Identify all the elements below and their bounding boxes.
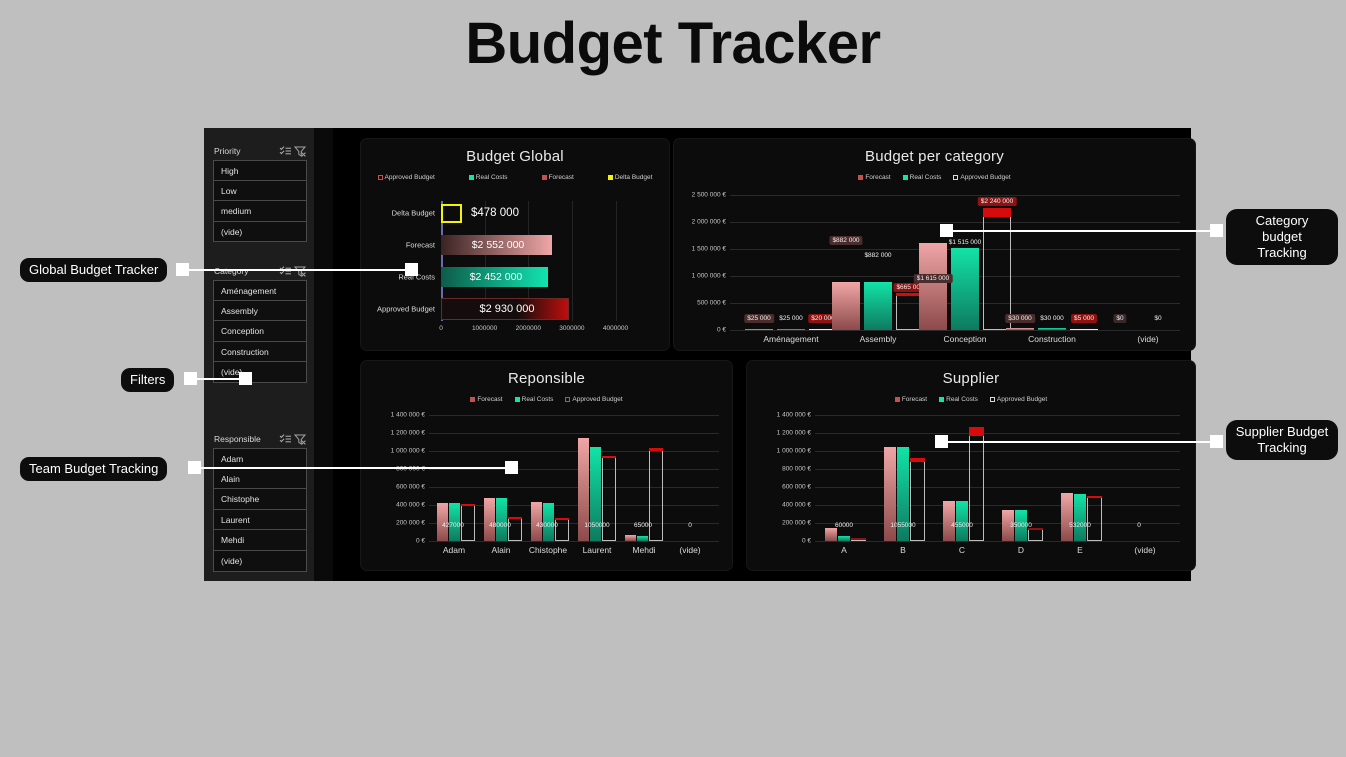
chart-legend-budget-global: Approved Budget Real Costs Forecast Delt… — [361, 174, 669, 181]
legend-label-real-costs: Real Costs — [910, 174, 942, 181]
gridline-200k — [815, 523, 1180, 524]
bar-cap-approved-budget-conception — [983, 208, 1011, 217]
ytick-0: 0 € — [717, 327, 726, 334]
datalabel-vide: 0 — [1134, 521, 1144, 530]
ytick-500000: 500 000 € — [697, 300, 726, 307]
bar-cap-approved-budget-b — [910, 458, 925, 462]
legend-swatch-forecast — [470, 397, 475, 402]
leader-line-supplier-budget-tracking — [938, 441, 1223, 443]
gridline-400k — [815, 505, 1180, 506]
xlabel-alain: Alain — [492, 545, 511, 555]
datalabel-alain: 480000 — [486, 521, 514, 530]
leader-handle-supplier-budget-tracking-start[interactable] — [935, 435, 948, 448]
bar-forecast-amenagement[interactable] — [745, 329, 773, 330]
xlabel-laurent: Laurent — [583, 545, 612, 555]
gridline-4m — [616, 201, 617, 321]
datalabel-mehdi: 65000 — [631, 521, 655, 530]
dashboard: Priority — [204, 128, 1191, 581]
slicer-item-category-construction[interactable]: Construction — [213, 342, 307, 363]
xlabel-adam: Adam — [443, 545, 465, 555]
leader-handle-team-budget-tracking-start[interactable] — [188, 461, 201, 474]
chart-legend-responsible: Forecast Real Costs Approved Budget — [361, 396, 732, 403]
xlabel-conception: Conception — [943, 334, 986, 344]
gridline-3m — [572, 201, 573, 321]
datalabel-c: 455000 — [948, 521, 976, 530]
gridline-600k — [429, 487, 719, 488]
xlabel-vide: (vide) — [1134, 545, 1155, 555]
xtick-0: 0 — [439, 325, 443, 332]
bar-real-costs-alain[interactable] — [496, 498, 507, 541]
bar-value-delta-budget: $478 000 — [471, 207, 519, 219]
gridline-800k — [429, 469, 719, 470]
legend-label-approved-budget: Approved Budget — [960, 174, 1010, 181]
datalabel-real-costs-amenagement: $25 000 — [776, 314, 806, 323]
xlabel-d: D — [1018, 545, 1024, 555]
bar-approved-budget-a[interactable] — [851, 538, 866, 541]
bar-label-approved-budget: Approved Budget — [377, 305, 435, 314]
leader-handle-supplier-budget-tracking-end[interactable] — [1210, 435, 1223, 448]
chart-card-supplier[interactable]: Supplier Forecast Real Costs Approved Bu… — [746, 360, 1196, 571]
datalabel-forecast-conception: $1 615 000 — [914, 274, 953, 283]
slicer-priority: Priority — [208, 142, 312, 252]
xtick-1000000: 1000000 — [472, 325, 497, 332]
gridline-2-5m — [730, 195, 1180, 196]
gridline-0 — [429, 541, 719, 542]
bar-cap-approved-budget-a — [851, 538, 866, 540]
legend-item-approved-budget[interactable]: Approved Budget — [378, 174, 435, 181]
bar-approved-budget-conception[interactable] — [983, 209, 1011, 330]
ytick-400000: 400 000 € — [782, 502, 811, 509]
bar-cap-approved-budget-chistophe — [555, 518, 569, 520]
bar-delta-budget[interactable] — [441, 204, 462, 223]
legend-label-real-costs: Real Costs — [522, 396, 554, 403]
chart-legend-budget-per-category: Forecast Real Costs Approved Budget — [674, 174, 1195, 181]
plot-budget-global: Delta Budget $478 000 Forecast $2 552 00… — [441, 201, 633, 321]
slicer-category-title: Category — [214, 266, 279, 276]
datalabel-real-costs-vide: $0 — [1151, 314, 1164, 323]
plot-supplier: 0 € 200 000 € 400 000 € 600 000 € 800 00… — [815, 415, 1180, 541]
chart-card-budget-per-category[interactable]: Budget per category Forecast Real Costs … — [673, 138, 1196, 351]
legend-swatch-approved-budget — [990, 397, 995, 402]
datalabel-adam: 427000 — [439, 521, 467, 530]
bar-forecast-mehdi[interactable] — [625, 535, 636, 541]
ytick-200000: 200 000 € — [782, 520, 811, 527]
slicer-item-responsible-alain[interactable]: Alain — [213, 469, 307, 490]
slicer-priority-header: Priority — [208, 142, 312, 160]
gridline-0 — [815, 541, 1180, 542]
multiselect-icon[interactable] — [279, 433, 293, 446]
ytick-0: 0 € — [416, 538, 425, 545]
slicer-item-category-conception[interactable]: Conception — [213, 321, 307, 342]
bar-cap-approved-budget-e — [1087, 496, 1102, 498]
bar-real-costs-a[interactable] — [838, 536, 850, 541]
ytick-800000: 800 000 € — [782, 466, 811, 473]
bar-real-costs-assembly[interactable] — [864, 282, 892, 330]
legend-item-approved-budget[interactable]: Approved Budget — [953, 174, 1010, 181]
bar-cap-approved-budget-c — [969, 427, 984, 436]
page-title: Budget Tracker — [0, 10, 1346, 77]
page-root: Budget Tracker Priority — [0, 0, 1346, 757]
legend-swatch-real-costs — [939, 397, 944, 402]
slicer-responsible-header: Responsible — [208, 430, 312, 448]
datalabel-real-costs-conception: $1 515 000 — [946, 238, 985, 247]
xlabel-vide: (vide) — [679, 545, 700, 555]
bar-forecast-assembly[interactable] — [832, 282, 860, 330]
gridline-600k — [815, 487, 1180, 488]
legend-item-real-costs[interactable]: Real Costs — [903, 174, 942, 181]
legend-item-real-costs[interactable]: Real Costs — [515, 396, 554, 403]
multiselect-icon[interactable] — [279, 145, 293, 158]
legend-item-approved-budget[interactable]: Approved Budget — [990, 396, 1047, 403]
xlabel-b: B — [900, 545, 906, 555]
datalabel-approved-budget-conception: $2 240 000 — [978, 197, 1017, 206]
chart-title-budget-global: Budget Global — [361, 148, 669, 165]
chart-card-responsible[interactable]: Reponsible Forecast Real Costs Approved … — [360, 360, 733, 571]
datalabel-approved-budget-construction: $5 000 — [1071, 314, 1097, 323]
bar-approved-budget-e[interactable] — [1087, 496, 1102, 541]
clear-filter-icon[interactable] — [293, 265, 307, 278]
chart-title-supplier: Supplier — [747, 370, 1195, 387]
datalabel-forecast-construction: $30 000 — [1005, 314, 1035, 323]
gridline-1m — [429, 451, 719, 452]
slicer-priority-title: Priority — [214, 146, 279, 156]
filters-sidebar: Priority — [204, 128, 333, 581]
ytick-1000000: 1 000 000 € — [777, 448, 811, 455]
chart-title-responsible: Reponsible — [361, 370, 732, 387]
bar-label-delta-budget: Delta Budget — [392, 209, 435, 218]
plot-responsible: 0 € 200 000 € 400 000 € 600 000 € 800 00… — [429, 415, 719, 541]
datalabel-chistophe: 430000 — [533, 521, 561, 530]
legend-swatch-approved-budget — [378, 175, 383, 180]
slicer-item-category-assembly[interactable]: Assembly — [213, 301, 307, 322]
slicer-item-responsible-laurent[interactable]: Laurent — [213, 510, 307, 531]
legend-swatch-real-costs — [515, 397, 520, 402]
legend-item-forecast[interactable]: Forecast — [858, 174, 890, 181]
leader-handle-global-budget-tracker-start[interactable] — [176, 263, 189, 276]
ytick-1500000: 1 500 000 € — [692, 246, 726, 253]
leader-handle-category-budget-tracking-end[interactable] — [1210, 224, 1223, 237]
slicer-item-priority-vide[interactable]: (vide) — [213, 222, 307, 243]
ytick-1000000: 1 000 000 € — [391, 448, 425, 455]
legend-item-real-costs[interactable]: Real Costs — [469, 174, 508, 181]
ytick-1400000: 1 400 000 € — [391, 412, 425, 419]
xlabel-amenagement: Aménagement — [763, 334, 818, 344]
gridline-1-2m — [429, 433, 719, 434]
bar-value-forecast: $2 552 000 — [472, 239, 525, 251]
bar-cap-approved-budget-alain — [508, 517, 522, 519]
bar-real-costs-conception[interactable] — [951, 248, 979, 330]
slicer-item-responsible-chistophe[interactable]: Chistophe — [213, 489, 307, 510]
slicer-responsible: Responsible — [208, 430, 312, 578]
legend-swatch-forecast — [542, 175, 547, 180]
plot-budget-per-category: 0 € 500 000 € 1 000 000 € 1 500 000 € 2 … — [730, 195, 1180, 330]
ytick-200000: 200 000 € — [396, 520, 425, 527]
leader-line-category-budget-tracking — [940, 230, 1223, 232]
slicer-category-header: Category — [208, 262, 312, 280]
slicer-responsible-title: Responsible — [214, 434, 279, 444]
datalabel-b: 1055000 — [887, 521, 918, 530]
ytick-400000: 400 000 € — [396, 502, 425, 509]
leader-handle-team-budget-tracking-end[interactable] — [505, 461, 518, 474]
xtick-2000000: 2000000 — [516, 325, 541, 332]
gridline-2m — [730, 222, 1180, 223]
legend-item-forecast[interactable]: Forecast — [470, 396, 502, 403]
bar-label-forecast: Forecast — [406, 241, 435, 250]
bar-forecast-conception[interactable] — [919, 243, 947, 330]
datalabel-forecast-amenagement: $25 000 — [744, 314, 774, 323]
bar-forecast-construction[interactable] — [1006, 328, 1034, 330]
bar-real-costs-mehdi[interactable] — [637, 536, 648, 541]
legend-label-delta-budget: Delta Budget — [615, 174, 653, 181]
slicer-category: Category — [208, 262, 312, 392]
callout-team-budget-tracking: Team Budget Tracking — [20, 457, 167, 481]
xlabel-vide: (vide) — [1137, 334, 1158, 344]
legend-item-approved-budget[interactable]: Approved Budget — [565, 396, 622, 403]
legend-label-real-costs: Real Costs — [946, 396, 978, 403]
datalabel-e: 532000 — [1066, 521, 1094, 530]
ytick-1400000: 1 400 000 € — [777, 412, 811, 419]
legend-swatch-approved-budget — [953, 175, 958, 180]
xlabel-e: E — [1077, 545, 1083, 555]
chart-card-budget-global[interactable]: Budget Global Approved Budget Real Costs… — [360, 138, 670, 351]
xlabel-chistophe: Chistophe — [529, 545, 567, 555]
legend-item-real-costs[interactable]: Real Costs — [939, 396, 978, 403]
slicer-item-category-amenagement[interactable]: Aménagement — [213, 280, 307, 301]
gridline-0 — [730, 330, 1180, 331]
bar-forecast-e[interactable] — [1061, 493, 1073, 541]
xlabel-mehdi: Mehdi — [632, 545, 655, 555]
xlabel-c: C — [959, 545, 965, 555]
gridline-800k — [815, 469, 1180, 470]
xtick-3000000: 3000000 — [559, 325, 584, 332]
bar-value-real-costs: $2 452 000 — [470, 271, 523, 283]
bar-cap-approved-budget-adam — [461, 504, 475, 506]
xlabel-assembly: Assembly — [860, 334, 897, 344]
callout-category-budget-tracking: Category budget Tracking — [1226, 209, 1338, 265]
legend-swatch-real-costs — [903, 175, 908, 180]
chart-legend-supplier: Forecast Real Costs Approved Budget — [747, 396, 1195, 403]
ytick-1200000: 1 200 000 € — [391, 430, 425, 437]
legend-item-forecast[interactable]: Forecast — [895, 396, 927, 403]
bar-cap-approved-budget-mehdi — [649, 448, 663, 451]
slicer-item-priority-medium[interactable]: medium — [213, 201, 307, 222]
leader-handle-filters-start[interactable] — [184, 372, 197, 385]
leader-line-team-budget-tracking — [188, 467, 518, 469]
bar-real-costs-amenagement[interactable] — [777, 329, 805, 330]
legend-label-forecast: Forecast — [865, 174, 890, 181]
datalabel-forecast-vide: $0 — [1113, 314, 1126, 323]
xtick-4000000: 4000000 — [603, 325, 628, 332]
slicer-item-priority-low[interactable]: Low — [213, 181, 307, 202]
legend-label-forecast: Forecast — [902, 396, 927, 403]
legend-item-forecast[interactable]: Forecast — [542, 174, 574, 181]
legend-label-forecast: Forecast — [477, 396, 502, 403]
chart-title-budget-per-category: Budget per category — [674, 148, 1195, 165]
legend-label-approved-budget: Approved Budget — [997, 396, 1047, 403]
leader-handle-category-budget-tracking-start[interactable] — [940, 224, 953, 237]
bar-forecast-alain[interactable] — [484, 498, 495, 541]
legend-swatch-forecast — [858, 175, 863, 180]
callout-filters: Filters — [121, 368, 174, 392]
clear-filter-icon[interactable] — [293, 145, 307, 158]
datalabel-real-costs-construction: $30 000 — [1037, 314, 1067, 323]
ytick-1000000: 1 000 000 € — [692, 273, 726, 280]
datalabel-real-costs-assembly: $882 000 — [861, 251, 894, 260]
legend-swatch-forecast — [895, 397, 900, 402]
slicer-item-priority-high[interactable]: High — [213, 160, 307, 181]
bar-cap-approved-budget-laurent — [602, 456, 616, 458]
bar-approved-budget-construction[interactable] — [1070, 329, 1098, 330]
datalabel-d: 350000 — [1007, 521, 1035, 530]
datalabel-vide: 0 — [685, 521, 695, 530]
legend-swatch-delta-budget — [608, 175, 613, 180]
xlabel-construction: Construction — [1028, 334, 1076, 344]
leader-line-global-budget-tracker — [176, 269, 416, 271]
datalabel-a: 60000 — [832, 521, 856, 530]
legend-item-delta-budget[interactable]: Delta Budget — [608, 174, 653, 181]
leader-handle-global-budget-tracker-end[interactable] — [405, 263, 418, 276]
legend-label-real-costs: Real Costs — [476, 174, 508, 181]
ytick-2000000: 2 000 000 € — [692, 219, 726, 226]
slicer-item-responsible-adam[interactable]: Adam — [213, 448, 307, 469]
ytick-1200000: 1 200 000 € — [777, 430, 811, 437]
gridline-1-4m — [429, 415, 719, 416]
legend-label-forecast: Forecast — [549, 174, 574, 181]
gridline-1m — [815, 451, 1180, 452]
datalabel-laurent: 1050000 — [581, 521, 612, 530]
slicer-category-items: Aménagement Assembly Conception Construc… — [208, 280, 312, 383]
callout-supplier-budget-tracking: Supplier Budget Tracking — [1226, 420, 1338, 460]
bar-real-costs-e[interactable] — [1074, 494, 1086, 541]
gridline-1-2m — [815, 433, 1180, 434]
callout-global-budget-tracker: Global Budget Tracker — [20, 258, 167, 282]
leader-handle-filters-end[interactable] — [239, 372, 252, 385]
report-canvas: Budget Global Approved Budget Real Costs… — [333, 128, 1191, 581]
ytick-2500000: 2 500 000 € — [692, 192, 726, 199]
legend-label-approved-budget: Approved Budget — [385, 174, 435, 181]
slicer-item-responsible-vide[interactable]: (vide) — [213, 551, 307, 572]
legend-swatch-approved-budget — [565, 397, 570, 402]
bar-value-approved-budget: $2 930 000 — [479, 303, 534, 315]
multiselect-icon[interactable] — [279, 265, 293, 278]
legend-swatch-real-costs — [469, 175, 474, 180]
clear-filter-icon[interactable] — [293, 433, 307, 446]
gridline-1-4m — [815, 415, 1180, 416]
ytick-600000: 600 000 € — [396, 484, 425, 491]
ytick-0: 0 € — [802, 538, 811, 545]
bar-real-costs-construction[interactable] — [1038, 328, 1066, 330]
slicer-priority-items: High Low medium (vide) — [208, 160, 312, 242]
slicer-item-responsible-mehdi[interactable]: Mehdi — [213, 530, 307, 551]
legend-label-approved-budget: Approved Budget — [572, 396, 622, 403]
xlabel-a: A — [841, 545, 847, 555]
ytick-600000: 600 000 € — [782, 484, 811, 491]
datalabel-forecast-assembly: $882 000 — [829, 236, 862, 245]
